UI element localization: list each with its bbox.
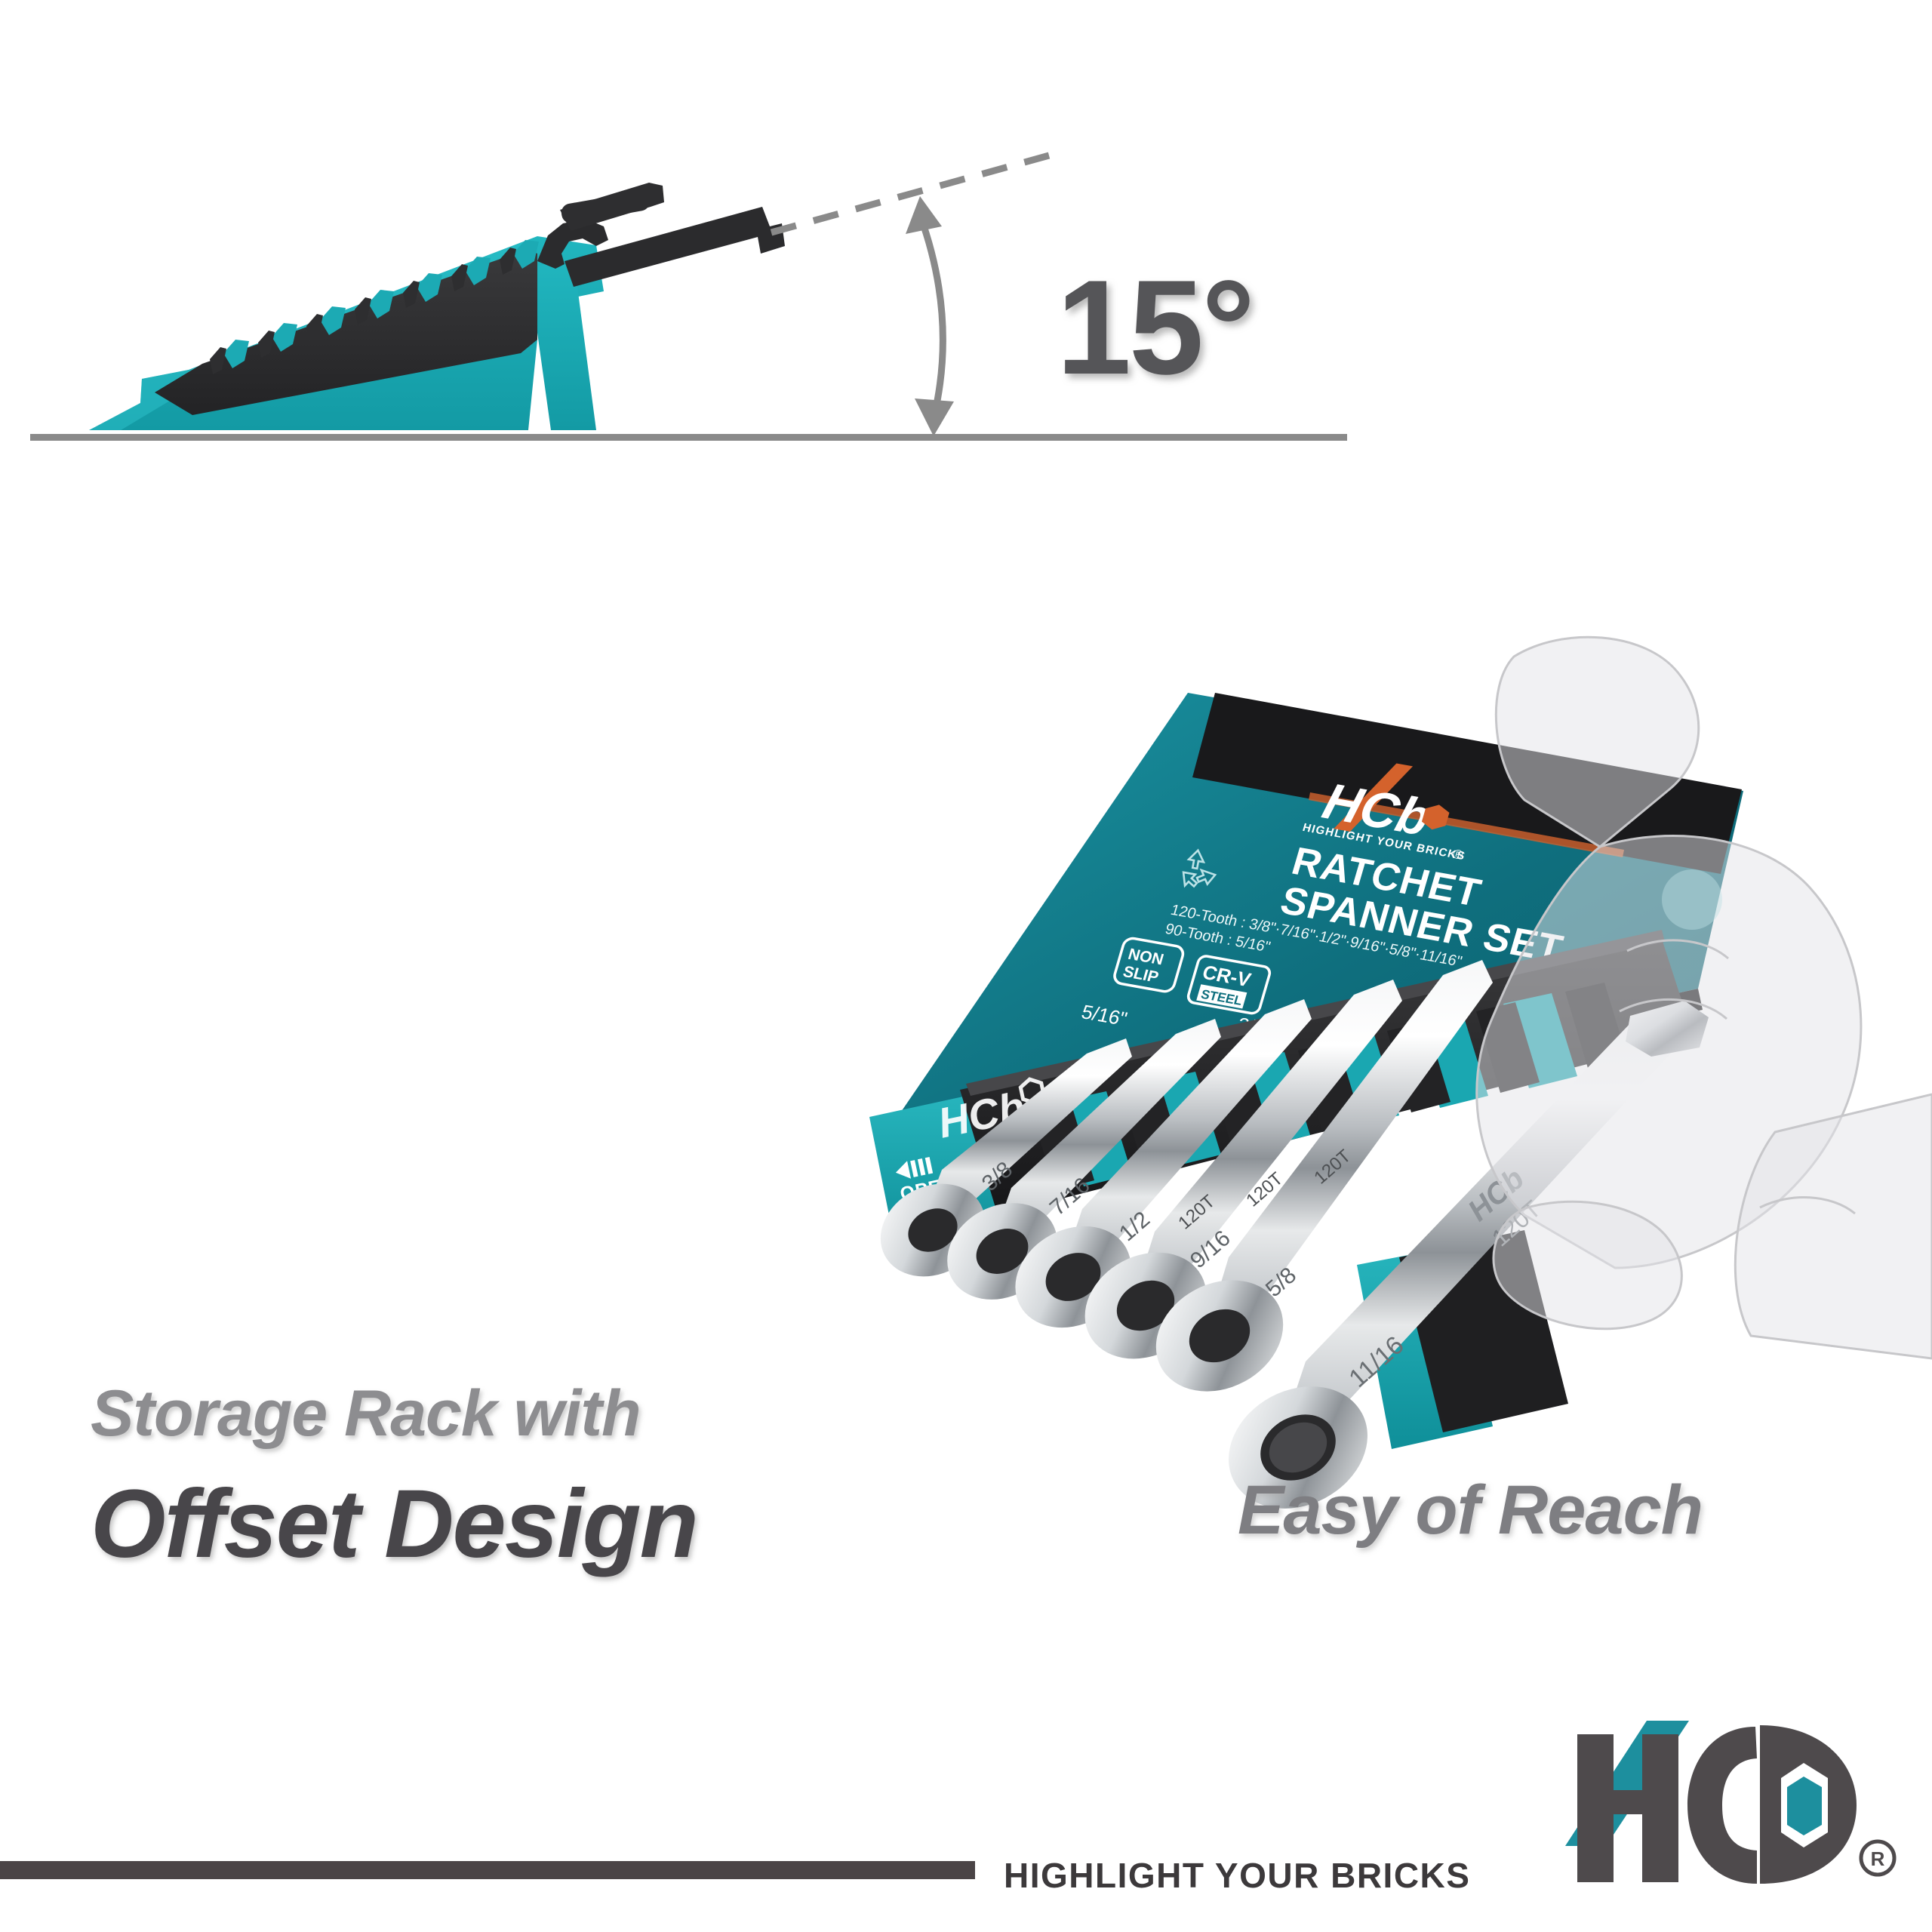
product-feature-poster: 15° (0, 0, 1932, 1932)
registered-mark-letter: R (1871, 1847, 1885, 1870)
arc-arrow-head-bottom (915, 398, 954, 436)
footer-brand-logo: R (1555, 1721, 1932, 1932)
footer-tagline: HIGHLIGHT YOUR BRICKS (1004, 1855, 1470, 1896)
copy-right-caption: Easy of Reach (1238, 1475, 1703, 1545)
hand-outline-overlay (1477, 637, 1932, 1358)
angle-arc-arrow (920, 215, 943, 415)
footer-divider-rule (0, 1861, 975, 1879)
copy-kicker: Storage Rack with (91, 1381, 921, 1446)
footer: HIGHLIGHT YOUR BRICKS R (0, 1796, 1932, 1932)
copy-headline: Offset Design (91, 1476, 921, 1573)
angle-value-label: 15° (1057, 260, 1253, 395)
logo-hex-icon (1787, 1777, 1822, 1835)
arc-arrow-head-top (906, 196, 942, 234)
logo-letter-c (1687, 1727, 1757, 1884)
offset-wrench-silhouette (537, 183, 785, 287)
dashed-guide-line (771, 155, 1049, 232)
marketing-copy-left: Storage Rack with Offset Design (91, 1381, 921, 1573)
ground-line (30, 434, 1347, 441)
